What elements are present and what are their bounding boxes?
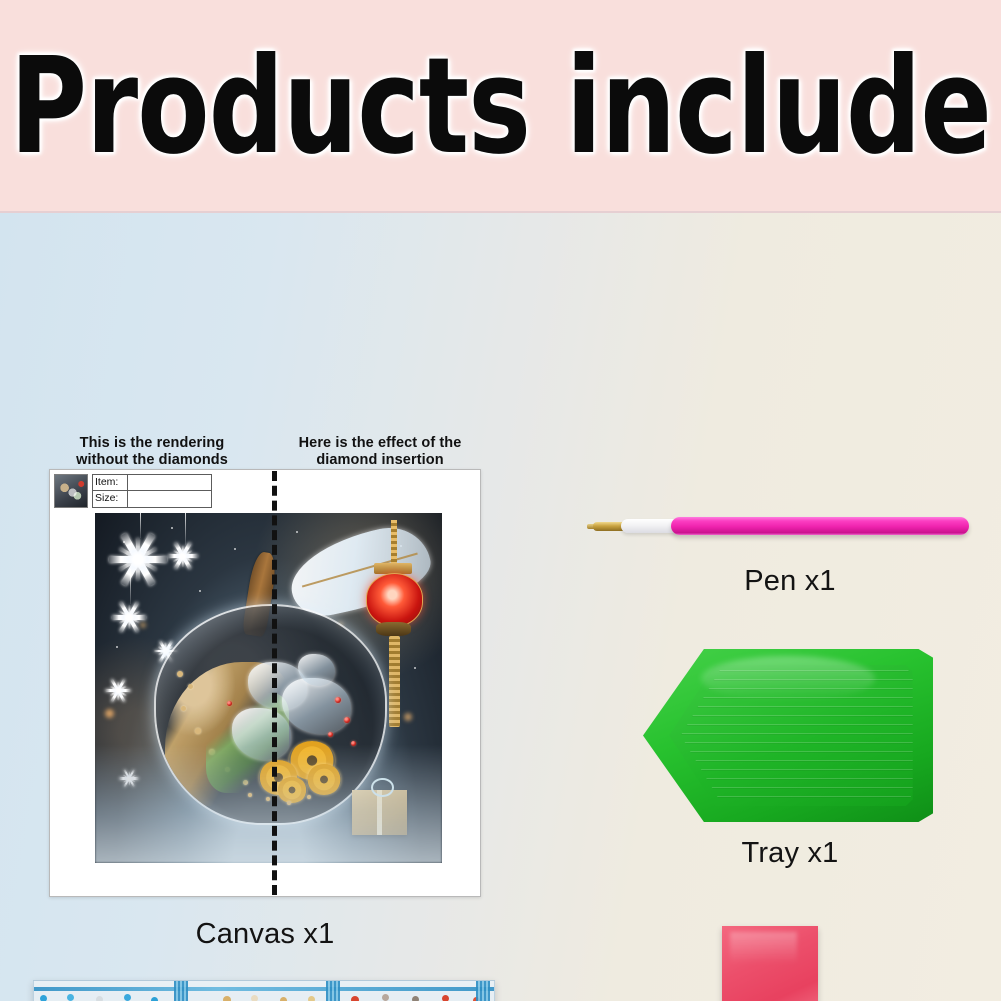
star bbox=[296, 531, 298, 533]
canvas-preview[interactable]: Item: Size: bbox=[49, 469, 481, 897]
handbag-compartment-gold bbox=[186, 981, 342, 1001]
star bbox=[116, 646, 118, 648]
page-title: Products include bbox=[10, 41, 991, 174]
canvas-info-bar: Item: Size: bbox=[54, 474, 212, 508]
red-berry bbox=[344, 717, 350, 723]
blue-gems bbox=[34, 989, 186, 1001]
caption-tray: Tray x1 bbox=[600, 837, 980, 870]
snowflake-icon bbox=[168, 541, 198, 571]
handbag-compartment-blue bbox=[34, 981, 186, 1001]
handbag-compartment-red bbox=[342, 981, 494, 1001]
bokeh-light bbox=[404, 713, 412, 721]
zipper-track[interactable] bbox=[174, 981, 188, 1001]
red-berry bbox=[328, 732, 333, 737]
caption-canvas: Canvas x1 bbox=[49, 918, 481, 951]
clay-glue-highlight bbox=[730, 932, 797, 965]
canvas-fields: Item: Size: bbox=[92, 474, 212, 508]
size-field-input[interactable] bbox=[128, 491, 212, 508]
red-berry bbox=[335, 697, 341, 703]
snowflake-icon bbox=[112, 601, 146, 635]
item-field-row: Item: bbox=[92, 474, 212, 491]
snow-mist bbox=[95, 744, 442, 863]
zipper-track[interactable] bbox=[326, 981, 340, 1001]
product-include-infographic: Products include This is the rendering w… bbox=[0, 0, 1001, 1001]
comparison-divider bbox=[272, 471, 277, 895]
canvas-artwork bbox=[95, 513, 442, 863]
apple-ornament-thumbnail-icon bbox=[54, 474, 88, 508]
snowflake-icon bbox=[105, 678, 131, 704]
snowflake-icon bbox=[109, 531, 167, 589]
callout-left-text: This is the rendering without the diamon… bbox=[76, 435, 228, 468]
callout-right-text: Here is the effect of the diamond insert… bbox=[299, 435, 462, 468]
pen-barrel bbox=[671, 517, 969, 535]
size-field-label: Size: bbox=[92, 491, 128, 508]
tray-image bbox=[643, 649, 933, 822]
zipper-track[interactable] bbox=[476, 981, 490, 1001]
pen-image bbox=[585, 513, 970, 539]
tray-highlight bbox=[701, 656, 875, 701]
star bbox=[234, 548, 236, 550]
lantern-tassel bbox=[389, 636, 399, 727]
page-header: Products include bbox=[0, 0, 1001, 213]
clay-glue-image bbox=[722, 926, 818, 1001]
lantern-cap bbox=[374, 563, 412, 574]
snowflake-thread bbox=[185, 513, 186, 545]
item-field-label: Item: bbox=[92, 474, 128, 491]
red-gems bbox=[342, 989, 494, 1001]
handbag-image bbox=[33, 980, 495, 1001]
gold-gems bbox=[186, 989, 342, 1001]
caption-pen: Pen x1 bbox=[600, 565, 980, 598]
item-field-input[interactable] bbox=[128, 474, 212, 491]
snowflake-thread bbox=[130, 569, 131, 604]
content-area: This is the rendering without the diamon… bbox=[0, 213, 1001, 1001]
size-field-row: Size: bbox=[92, 491, 212, 508]
